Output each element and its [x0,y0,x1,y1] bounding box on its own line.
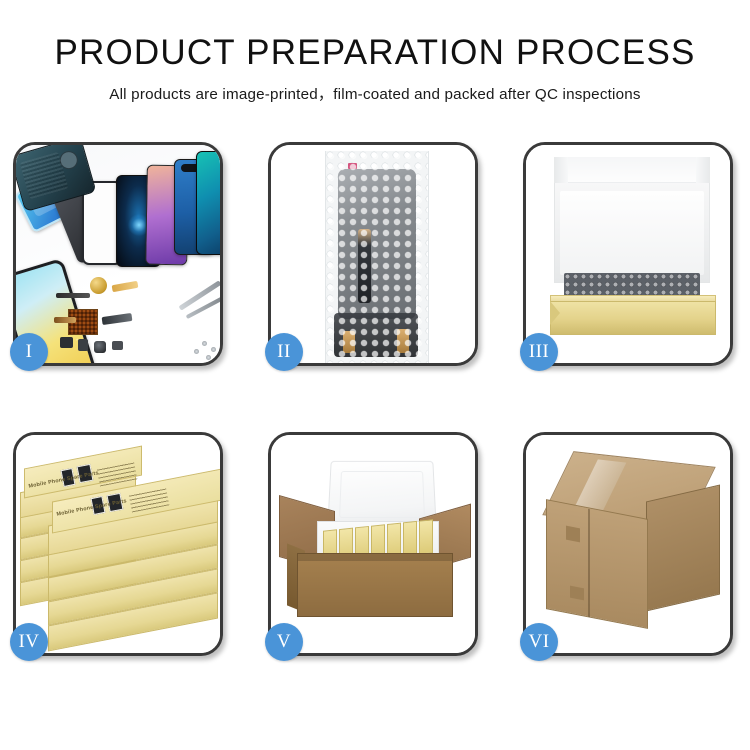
step-5-image [271,435,475,653]
ic-chip-part [60,337,73,348]
step-2-image [271,145,475,363]
yellow-box [419,519,433,554]
step-badge-2: II [265,333,303,371]
retail-box-stack: Mobile Phone Spare Parts Mobile Phone Sp… [20,451,220,643]
screw-part [194,349,199,354]
lcd-connector-board [334,313,418,357]
copper-coil-part [90,277,107,294]
carton-loading-scene [271,435,475,653]
bubble-wrap-bag [325,151,429,363]
carton-front-face [546,499,648,629]
process-step-4[interactable]: Mobile Phone Spare Parts Mobile Phone Sp… [13,432,223,656]
product-preparation-infographic: PRODUCT PREPARATION PROCESS All products… [0,0,750,750]
flex-cable-gold [112,281,139,292]
open-box-scene [526,145,730,363]
process-step-1[interactable]: I [13,142,223,366]
page-subtitle: All products are image-printed，film-coat… [0,82,750,104]
lcd-flex-cable [358,229,371,303]
carton-seam [588,509,590,617]
flex-cable-dark [102,313,133,325]
header: PRODUCT PREPARATION PROCESS All products… [0,0,750,104]
flex-cable-small [54,317,76,323]
step-badge-5: V [265,623,303,661]
process-step-2[interactable]: II [268,142,478,366]
bubble-wrap-scene [271,145,475,363]
sealed-carton-scene [526,435,730,653]
process-step-grid: I II [13,142,737,656]
screw-part [202,341,207,346]
page-title: PRODUCT PREPARATION PROCESS [0,34,750,73]
step-1-image [16,145,220,363]
qc-sticker [348,163,357,169]
connector-part [78,339,88,351]
tweezers-tool [179,280,220,310]
step-badge-1: I [10,333,48,371]
step-badge-6: VI [520,623,558,661]
kraft-box-base [550,301,716,335]
step-4-image: Mobile Phone Spare Parts Mobile Phone Sp… [16,435,220,653]
step-3-image [526,145,730,363]
step-6-image [526,435,730,653]
box-stack-scene: Mobile Phone Spare Parts Mobile Phone Sp… [16,435,220,653]
process-step-6[interactable]: VI [523,432,733,656]
earpiece-mesh-part [56,293,90,298]
speaker-part [112,341,123,350]
lcd-assembly [338,169,416,319]
screw-part [206,355,211,360]
box-lid-top-edge [554,157,710,183]
yellow-box [403,521,417,556]
carton-tab [570,586,584,601]
step-badge-4: IV [10,623,48,661]
carton-tab [566,526,580,543]
phone-parts-scene [16,145,220,363]
carton-right-face [646,484,720,611]
carton-front-panel [297,553,453,617]
foam-sheet [560,191,704,275]
screw-part [211,347,216,352]
camera-module-part [94,341,106,353]
step-badge-3: III [520,333,558,371]
process-step-3[interactable]: III [523,142,733,366]
process-step-5[interactable]: V [268,432,478,656]
teal-phone [196,151,220,255]
